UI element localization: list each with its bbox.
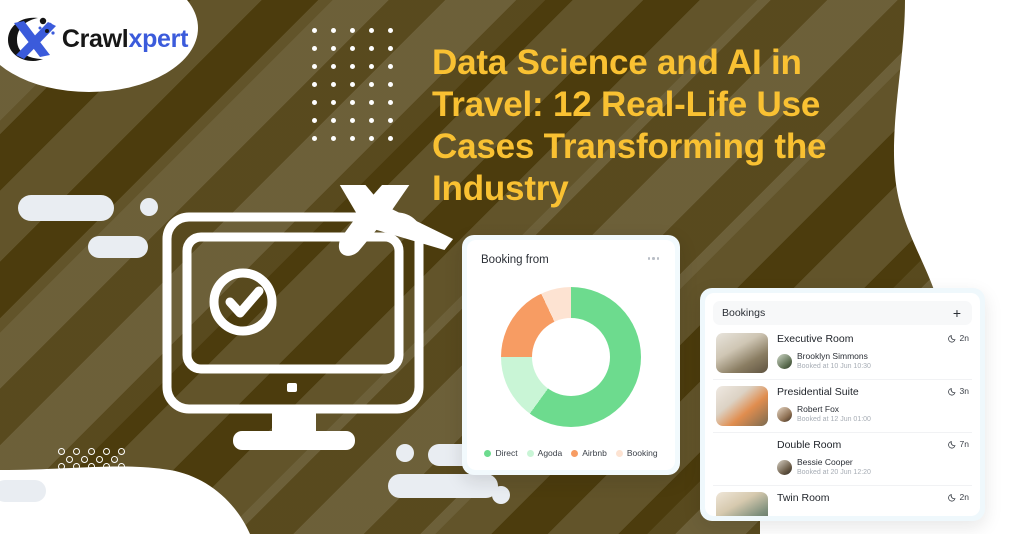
avatar xyxy=(777,354,792,369)
ring-dot xyxy=(96,471,103,478)
dot xyxy=(369,100,374,105)
ring-dot xyxy=(58,493,65,500)
room-name: Twin Room xyxy=(777,492,830,504)
dot xyxy=(388,64,393,69)
ring-dot xyxy=(88,463,95,470)
logo-text-accent: xpert xyxy=(128,25,188,53)
guest-text: Brooklyn SimmonsBooked at 10 Jun 10:30 xyxy=(797,351,871,372)
avatar xyxy=(777,407,792,422)
banner-canvas: Crawlxpert Data Science and AI in Travel… xyxy=(0,0,1020,534)
ring-dot xyxy=(73,478,80,485)
ring-dot xyxy=(58,463,65,470)
dot xyxy=(331,118,336,123)
room-name: Executive Room xyxy=(777,333,853,345)
legend-item: Airbnb xyxy=(571,448,607,458)
dot xyxy=(312,136,317,141)
moon-icon xyxy=(948,387,957,396)
nights-count: 3n xyxy=(960,386,969,396)
dot xyxy=(312,46,317,51)
dot xyxy=(350,46,355,51)
dot xyxy=(312,82,317,87)
dot xyxy=(331,46,336,51)
booking-row-top: Presidential Suite3n xyxy=(777,386,969,398)
legend-label: Airbnb xyxy=(582,448,607,458)
guest-name: Brooklyn Simmons xyxy=(797,351,871,362)
booking-row-top: Double Room7n xyxy=(777,439,969,451)
room-thumbnail xyxy=(716,386,768,426)
ring-dot xyxy=(66,486,73,493)
ring-dot xyxy=(58,508,65,515)
monitor-airplane-illustration xyxy=(155,185,455,450)
dot xyxy=(312,100,317,105)
dot xyxy=(350,28,355,33)
dot-grid-decoration xyxy=(312,28,393,154)
ring-dot xyxy=(96,456,103,463)
decor-dot-3 xyxy=(492,486,510,504)
ring-dot xyxy=(111,501,118,508)
ring-dot xyxy=(81,501,88,508)
dot xyxy=(369,82,374,87)
ring-dot xyxy=(111,456,118,463)
ring-dot xyxy=(118,463,125,470)
dot xyxy=(312,64,317,69)
table-row[interactable]: Presidential Suite3nRobert FoxBooked at … xyxy=(713,380,972,433)
ring-dot xyxy=(103,508,110,515)
dot-grid-row xyxy=(312,82,393,87)
table-row[interactable]: Twin Room2n xyxy=(713,486,972,516)
nights-count: 7n xyxy=(960,439,969,449)
dot xyxy=(369,28,374,33)
decor-pill-5 xyxy=(0,480,46,502)
ring-dot xyxy=(73,493,80,500)
dot xyxy=(388,82,393,87)
dot-grid-row xyxy=(312,28,393,33)
avatar xyxy=(777,460,792,475)
dot xyxy=(388,136,393,141)
ring-dot xyxy=(66,456,73,463)
booking-row-top: Executive Room2n xyxy=(777,333,969,345)
booking-details: Presidential Suite3nRobert FoxBooked at … xyxy=(777,386,969,425)
booked-timestamp: Booked at 20 Jun 12:20 xyxy=(797,468,871,478)
dot xyxy=(331,82,336,87)
table-row[interactable]: Executive Room2nBrooklyn SimmonsBooked a… xyxy=(713,327,972,380)
bookings-title: Bookings xyxy=(722,307,765,319)
guest-info: Bessie CooperBooked at 20 Jun 12:20 xyxy=(777,457,969,478)
ring-dot xyxy=(66,501,73,508)
ring-dot xyxy=(73,508,80,515)
ring-dot xyxy=(88,478,95,485)
legend-label: Direct xyxy=(495,448,517,458)
bookings-list: Executive Room2nBrooklyn SimmonsBooked a… xyxy=(713,327,972,516)
ellipsis-icon[interactable] xyxy=(646,254,662,263)
dot xyxy=(331,136,336,141)
room-name: Double Room xyxy=(777,439,841,451)
booking-details: Double Room7nBessie CooperBooked at 20 J… xyxy=(777,439,969,478)
logo-text-main: Crawl xyxy=(62,25,129,53)
ring-dot xyxy=(73,463,80,470)
ring-dot-diamond-decoration xyxy=(22,424,162,534)
booking-from-card: Booking from DirectAgodaAirbnbBooking xyxy=(462,235,680,475)
ring-dot xyxy=(66,471,73,478)
moon-icon xyxy=(948,334,957,343)
ring-dot xyxy=(96,486,103,493)
add-booking-button[interactable]: + xyxy=(951,308,963,318)
booked-timestamp: Booked at 10 Jun 10:30 xyxy=(797,362,871,372)
dot xyxy=(331,64,336,69)
dot xyxy=(388,46,393,51)
guest-info: Robert FoxBooked at 12 Jun 01:00 xyxy=(777,404,969,425)
dot xyxy=(350,118,355,123)
dot xyxy=(369,46,374,51)
ring-dot xyxy=(73,448,80,455)
nights-badge: 2n xyxy=(948,333,969,343)
room-name: Presidential Suite xyxy=(777,386,859,398)
booking-details: Twin Room2n xyxy=(777,492,969,504)
ring-dot xyxy=(96,501,103,508)
ring-dot xyxy=(118,493,125,500)
ring-dot xyxy=(88,493,95,500)
dot-grid-row xyxy=(312,118,393,123)
room-thumbnail xyxy=(716,492,768,516)
crawlxpert-x-logo-icon xyxy=(4,13,60,65)
ring-dot xyxy=(118,448,125,455)
decor-pill-1 xyxy=(18,195,114,221)
decor-pill-2 xyxy=(88,236,148,258)
moon-icon xyxy=(948,440,957,449)
nights-badge: 2n xyxy=(948,492,969,502)
dot xyxy=(350,64,355,69)
dot xyxy=(350,82,355,87)
guest-name: Bessie Cooper xyxy=(797,457,871,468)
dot xyxy=(369,118,374,123)
dot xyxy=(369,136,374,141)
dot xyxy=(350,100,355,105)
dot-grid-row xyxy=(312,136,393,141)
ring-dot xyxy=(81,456,88,463)
ring-dot xyxy=(103,493,110,500)
ring-dot xyxy=(103,463,110,470)
guest-name: Robert Fox xyxy=(797,404,871,415)
guest-text: Robert FoxBooked at 12 Jun 01:00 xyxy=(797,404,871,425)
bookings-header: Bookings + xyxy=(713,301,972,325)
dot xyxy=(388,100,393,105)
ring-dot xyxy=(118,508,125,515)
booking-from-title: Booking from xyxy=(481,254,549,266)
dot xyxy=(331,100,336,105)
logo-text: Crawlxpert xyxy=(62,25,188,54)
dot xyxy=(312,28,317,33)
ring-dot xyxy=(103,448,110,455)
chart-legend: DirectAgodaAirbnbBooking xyxy=(481,448,661,460)
legend-swatch-icon xyxy=(571,450,578,457)
booking-source-donut-chart xyxy=(501,287,641,427)
table-row[interactable]: Double Room7nBessie CooperBooked at 20 J… xyxy=(713,433,972,486)
legend-swatch-icon xyxy=(527,450,534,457)
ring-dot xyxy=(81,486,88,493)
legend-label: Agoda xyxy=(538,448,563,458)
legend-label: Booking xyxy=(627,448,658,458)
nights-badge: 3n xyxy=(948,386,969,396)
ring-dot xyxy=(118,478,125,485)
nights-count: 2n xyxy=(960,492,969,502)
page-title: Data Science and AI in Travel: 12 Real-L… xyxy=(432,42,884,210)
dot xyxy=(312,118,317,123)
ring-dot xyxy=(88,508,95,515)
room-thumbnail xyxy=(716,333,768,373)
dot xyxy=(388,28,393,33)
bookings-card: Bookings + Executive Room2nBrooklyn Simm… xyxy=(700,288,985,521)
legend-swatch-icon xyxy=(616,450,623,457)
ring-dot xyxy=(81,471,88,478)
moon-icon xyxy=(948,493,957,502)
room-thumbnail xyxy=(716,439,768,479)
nights-badge: 7n xyxy=(948,439,969,449)
legend-swatch-icon xyxy=(484,450,491,457)
dot xyxy=(388,118,393,123)
ring-dot xyxy=(88,448,95,455)
dot xyxy=(369,64,374,69)
nights-count: 2n xyxy=(960,333,969,343)
decor-pill-4 xyxy=(388,474,498,498)
dot xyxy=(331,28,336,33)
dot-grid-row xyxy=(312,100,393,105)
ring-dot xyxy=(111,471,118,478)
legend-item: Direct xyxy=(484,448,517,458)
legend-item: Booking xyxy=(616,448,658,458)
legend-item: Agoda xyxy=(527,448,563,458)
booking-details: Executive Room2nBrooklyn SimmonsBooked a… xyxy=(777,333,969,372)
ring-dot xyxy=(58,448,65,455)
guest-info: Brooklyn SimmonsBooked at 10 Jun 10:30 xyxy=(777,351,969,372)
ring-dot xyxy=(58,478,65,485)
booked-timestamp: Booked at 12 Jun 01:00 xyxy=(797,415,871,425)
dot-grid-row xyxy=(312,46,393,51)
dot xyxy=(350,136,355,141)
booking-row-top: Twin Room2n xyxy=(777,492,969,504)
dot-grid-row xyxy=(312,64,393,69)
ring-dot xyxy=(103,478,110,485)
ring-dot xyxy=(111,486,118,493)
guest-text: Bessie CooperBooked at 20 Jun 12:20 xyxy=(797,457,871,478)
